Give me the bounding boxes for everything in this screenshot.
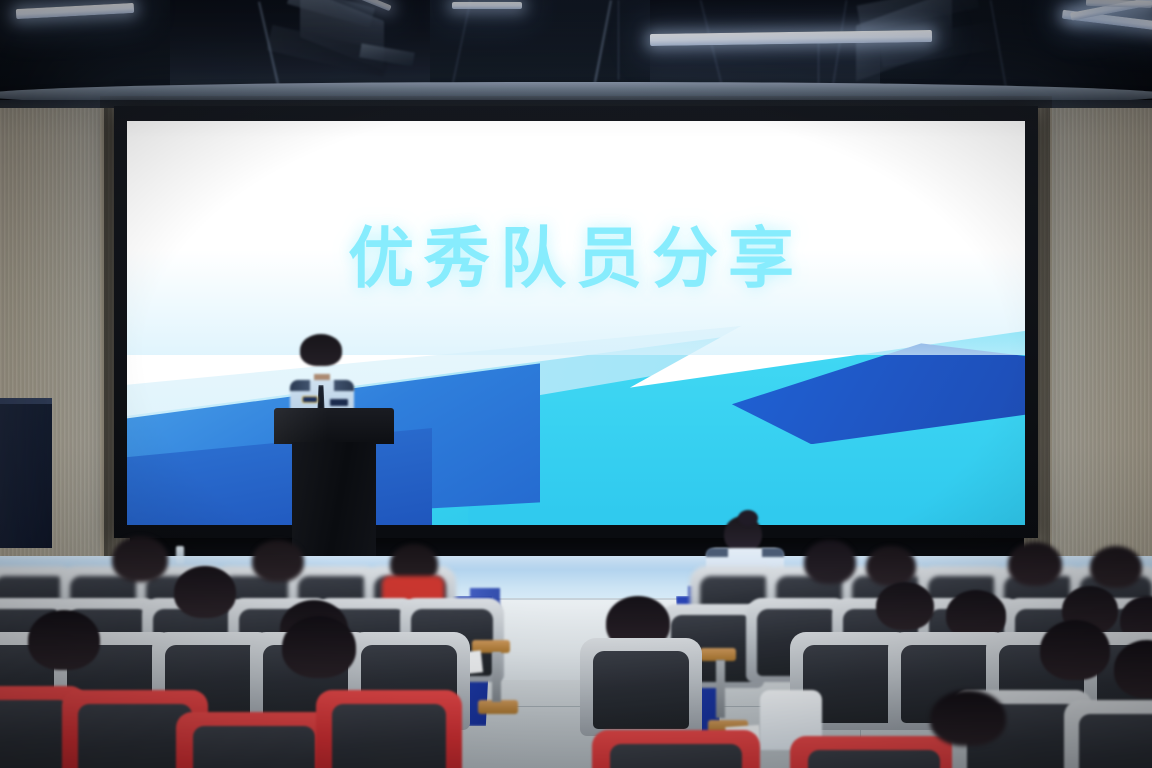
attendee-head [930,690,1006,746]
seat-armrest-post [716,660,725,718]
slide-canvas: 优秀队员分享 [127,121,1025,525]
speaker-hair [300,334,342,366]
podium-column [292,442,376,562]
attendee-head [252,540,304,582]
attendee-head [112,536,168,582]
auditorium-scene: 优秀队员分享 [0,0,1152,768]
attendee-head [876,582,934,630]
slide-title: 优秀队员分享 [127,226,1025,292]
seat[interactable] [580,638,702,736]
seat-armrest-post [492,652,501,702]
seat[interactable] [1064,700,1152,768]
fluorescent-tube-icon-2 [452,2,522,9]
attendee-head [866,546,916,586]
attendee-head [174,566,236,618]
attendee-head [1040,620,1110,680]
uniformed-attendee-shoulder-right [762,548,784,557]
attendee-head [804,540,856,584]
ceiling-cable-7 [618,0,619,80]
podium-top-highlight [274,408,394,444]
attendee-head [282,616,356,678]
speaker-name-badge [330,399,348,406]
water-bottle [176,546,184,564]
speaker-shoulder-board-left [290,380,310,391]
seat[interactable] [316,690,462,768]
speaker-shoulder-board-right [334,380,354,391]
ceiling-cable-5 [831,0,847,95]
uniformed-attendee-shoulder-left [706,548,728,557]
attendee-head [1008,542,1062,586]
seat-armrest [478,700,518,714]
attendee-head [28,610,100,670]
attendee-head [1090,546,1142,588]
pa-speaker-cabinet-top [0,398,52,404]
presentation-screen[interactable]: 优秀队员分享 [127,121,1025,525]
uniformed-attendee-bun [738,510,758,526]
seat[interactable] [176,712,332,768]
speaker-chest-badge [302,396,318,403]
pa-speaker-cabinet [0,398,52,548]
seat[interactable] [592,730,760,768]
seat[interactable] [790,736,958,768]
ceiling-cable-3 [700,0,725,93]
